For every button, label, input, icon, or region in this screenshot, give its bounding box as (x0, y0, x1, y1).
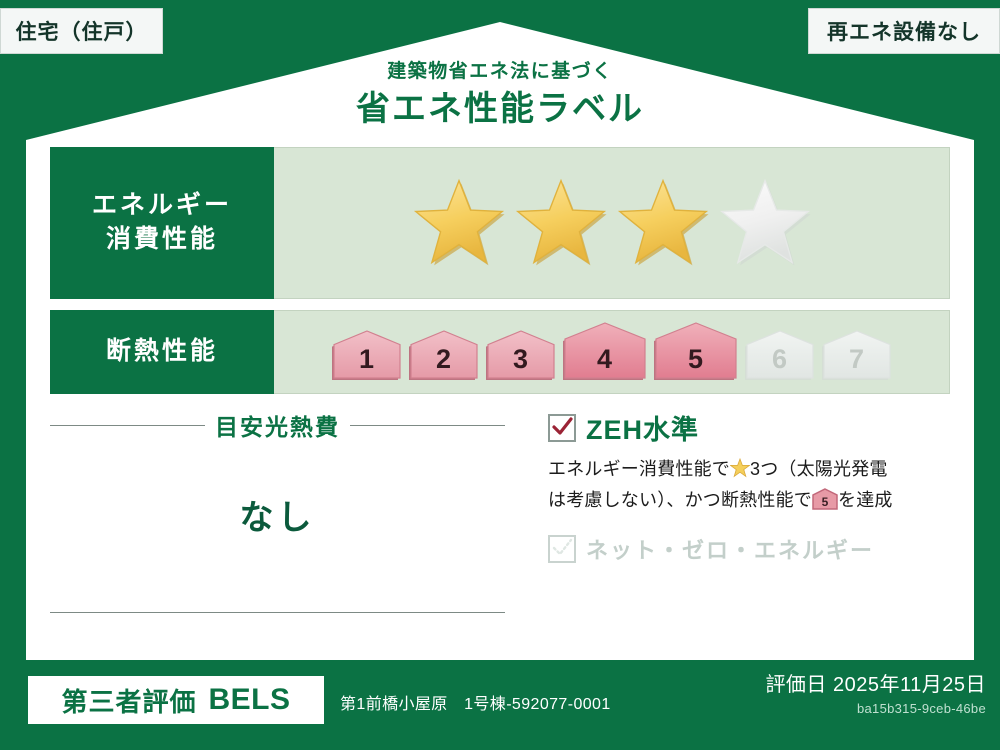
bels-en-label: BELS (209, 683, 291, 717)
utility-cost-bottom-rule (50, 612, 505, 613)
zeh-panel: ZEH水準 エネルギー消費性能で 3つ（太陽光発電 は考慮しない）、かつ断熱性能… (548, 408, 952, 565)
insulation-level-pip: 1 (331, 329, 403, 381)
utility-cost-heading-row: 目安光熱費 (50, 408, 505, 442)
empty-checkbox-icon (548, 535, 576, 563)
footer-right-block: 評価日 2025年11月25日 ba15b315-9ceb-46be (765, 668, 986, 716)
house-pip-icon: 5 (812, 488, 838, 519)
zeh-description: エネルギー消費性能で 3つ（太陽光発電 は考慮しない）、かつ断熱性能で 5 を達… (548, 456, 952, 519)
insulation-level-pip: 3 (485, 329, 557, 381)
net-zero-energy-row: ネット・ゼロ・エネルギー (548, 533, 952, 565)
energy-performance-label: エネルギー 消費性能 (50, 147, 274, 299)
insulation-level-pip: 7 (821, 329, 893, 381)
energy-performance-label: 住宅（住戸） 再エネ設備なし 建築物省エネ法に基づく 省エネ性能ラベル エネルギ… (0, 0, 1000, 750)
energy-label-line1: エネルギー (92, 189, 232, 223)
house-pip-icon (485, 329, 557, 381)
insulation-level-pip: 4 (562, 321, 648, 381)
house-pip-icon (562, 321, 648, 381)
insulation-level-scale: 1234567 (331, 321, 893, 383)
zeh-title: ZEH水準 (586, 408, 699, 447)
zeh-desc-part3: は考慮しない）、かつ断熱性能で (548, 490, 812, 510)
house-pip-icon (821, 329, 893, 381)
insulation-performance-label: 断熱性能 (50, 310, 274, 394)
house-pip-icon (744, 329, 816, 381)
zeh-desc-part2: 3つ（太陽光発電 (750, 459, 888, 479)
zeh-desc-part1: エネルギー消費性能で (548, 459, 730, 479)
checkmark-icon (548, 414, 576, 442)
document-uid: ba15b315-9ceb-46be (765, 701, 986, 716)
zeh-desc-pip-value: 5 (822, 495, 829, 509)
star-icon-filled (413, 177, 505, 269)
star-icon-filled (515, 177, 607, 269)
insulation-performance-value: 1234567 (274, 310, 950, 394)
heading-rule-left (50, 425, 205, 426)
energy-label-line2: 消費性能 (106, 223, 218, 257)
evaluation-date: 評価日 2025年11月25日 (765, 668, 986, 697)
bels-jp-label: 第三者評価 (61, 682, 196, 719)
insulation-performance-row: 断熱性能 1234567 (50, 310, 950, 394)
utility-cost-heading: 目安光熱費 (215, 408, 340, 442)
insulation-level-pip: 6 (744, 329, 816, 381)
insulation-label-text: 断熱性能 (106, 335, 218, 369)
net-zero-energy-label: ネット・ゼロ・エネルギー (586, 533, 874, 565)
house-pip-icon (653, 321, 739, 381)
bels-certification-badge: 第三者評価 BELS (26, 674, 326, 726)
star-icon-empty (719, 177, 811, 269)
energy-performance-row: エネルギー 消費性能 (50, 147, 950, 299)
insulation-level-pip: 5 (653, 321, 739, 381)
footer: 第三者評価 BELS 第1前橋小屋原 1号棟-592077-0001 評価日 2… (0, 660, 1000, 750)
property-identifier: 第1前橋小屋原 1号棟-592077-0001 (340, 690, 611, 714)
insulation-level-pip: 2 (408, 329, 480, 381)
heading-rule-right (350, 425, 505, 426)
star-icon-filled (617, 177, 709, 269)
star-icon (730, 458, 750, 487)
star-rating (413, 177, 811, 269)
badge-building-type: 住宅（住戸） (0, 8, 163, 54)
badge-renewable-equipment: 再エネ設備なし (808, 8, 1000, 54)
utility-cost-value: なし (50, 490, 505, 539)
energy-performance-value (274, 147, 950, 299)
house-pip-icon (331, 329, 403, 381)
zeh-title-row: ZEH水準 (548, 408, 952, 447)
zeh-desc-part4: を達成 (838, 490, 893, 510)
house-pip-icon (408, 329, 480, 381)
utility-cost-panel: 目安光熱費 なし (50, 408, 505, 613)
